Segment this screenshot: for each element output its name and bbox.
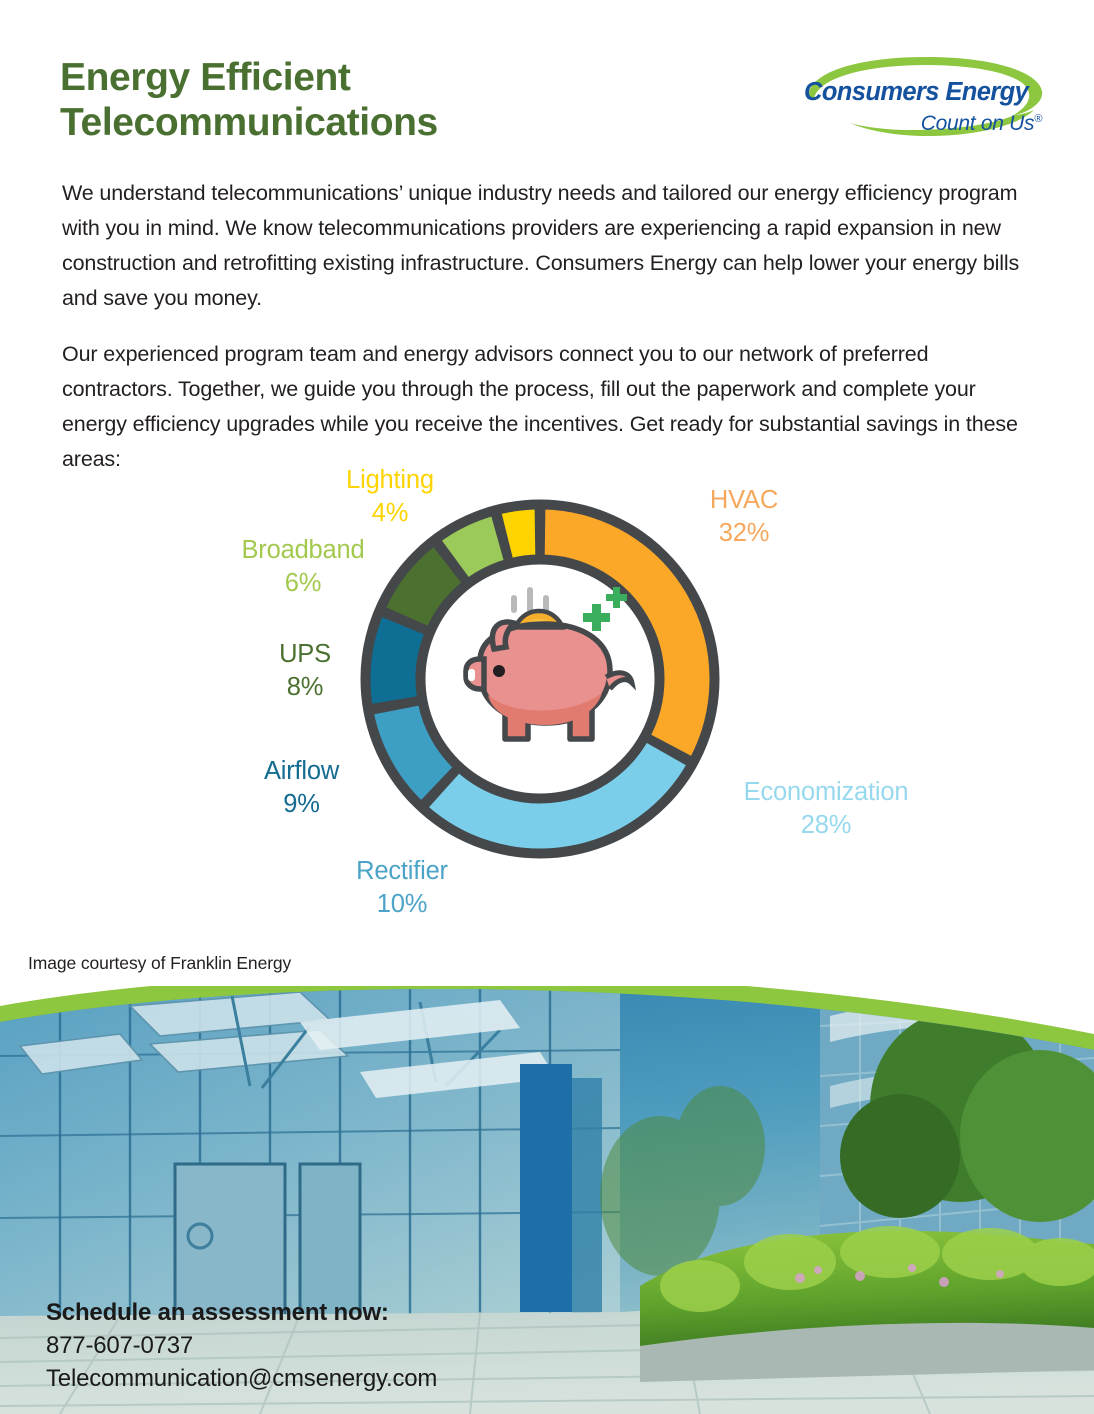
chart-label-rectifier-name: Rectifier	[356, 857, 448, 885]
logo-tagline: Count on Us®	[921, 112, 1042, 136]
chart-label-airflow: Airflow 9%	[234, 755, 369, 821]
logo-tagline-text: Count on Us	[921, 112, 1034, 135]
footer-contact-block: Schedule an assessment now: 877-607-0737…	[46, 1296, 437, 1395]
chart-label-hvac: HVAC 32%	[680, 484, 808, 550]
chart-label-lighting: Lighting 4%	[330, 464, 450, 530]
chart-label-broadband: Broadband 6%	[228, 534, 378, 600]
chart-label-ups-pct: 8%	[250, 671, 360, 704]
page-header: Energy Efficient Telecommunications Cons…	[0, 0, 1094, 165]
chart-label-ups-name: UPS	[279, 640, 331, 668]
consumers-energy-logo: Consumers Energy Count on Us®	[794, 54, 1046, 146]
chart-label-hvac-name: HVAC	[710, 486, 778, 514]
chart-label-economization-pct: 28%	[710, 809, 942, 842]
chart-label-broadband-name: Broadband	[242, 536, 365, 564]
footer-email[interactable]: Telecommunication@cmsenergy.com	[46, 1362, 437, 1395]
paragraph-1: We understand telecommunications’ unique…	[62, 176, 1024, 316]
donut-graphic: $	[357, 496, 723, 862]
chart-label-airflow-name: Airflow	[264, 757, 339, 785]
flyer-page: Energy Efficient Telecommunications Cons…	[0, 0, 1094, 1414]
page-title-line2: Telecommunications	[60, 100, 438, 145]
footer-phone[interactable]: 877-607-0737	[46, 1329, 437, 1362]
page-title: Energy Efficient Telecommunications	[60, 55, 438, 145]
chart-label-rectifier-pct: 10%	[322, 888, 482, 921]
savings-donut-chart: $	[0, 448, 1094, 948]
image-credit-caption: Image courtesy of Franklin Energy	[28, 953, 291, 974]
chart-label-economization-name: Economization	[744, 778, 909, 806]
chart-label-ups: UPS 8%	[250, 638, 360, 704]
logo-wordmark: Consumers Energy	[804, 78, 1028, 107]
intro-copy: We understand telecommunications’ unique…	[62, 176, 1024, 477]
page-title-line1: Energy Efficient	[60, 56, 351, 99]
chart-label-airflow-pct: 9%	[234, 788, 369, 821]
chart-label-lighting-pct: 4%	[330, 497, 450, 530]
chart-label-rectifier: Rectifier 10%	[322, 855, 482, 921]
chart-label-hvac-pct: 32%	[680, 517, 808, 550]
registered-mark: ®	[1034, 113, 1042, 125]
chart-label-lighting-name: Lighting	[346, 466, 434, 494]
footer-cta: Schedule an assessment now:	[46, 1296, 437, 1329]
chart-label-economization: Economization 28%	[710, 776, 942, 842]
chart-label-broadband-pct: 6%	[228, 567, 378, 600]
